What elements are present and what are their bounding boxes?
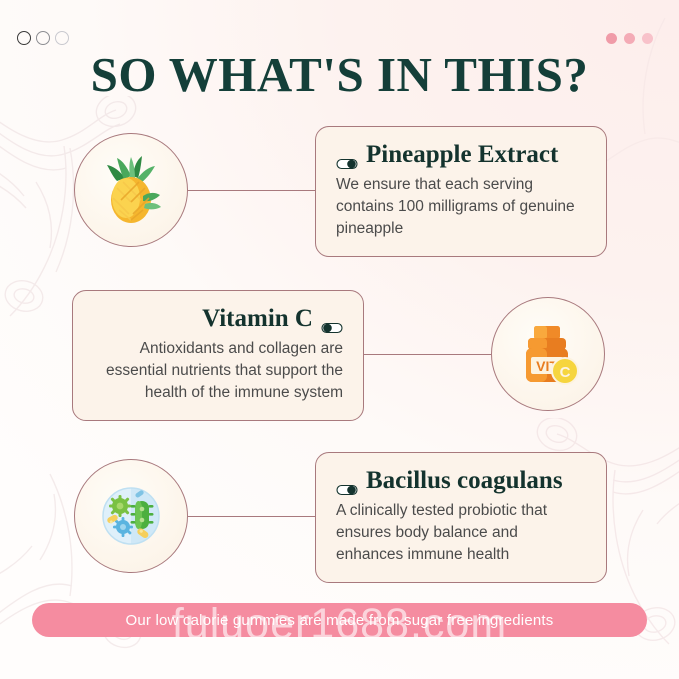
ingredient-card-vitamin-c: Vitamin C Antioxidants and collagen are … <box>72 290 364 421</box>
pineapple-icon <box>74 133 188 247</box>
leaf-bullet-icon <box>336 475 358 487</box>
ingredient-card-bacillus: Bacillus coagulans A clinically tested p… <box>315 452 607 583</box>
ingredient-row-pineapple: Pineapple Extract We ensure that each se… <box>0 126 679 266</box>
ingredient-heading-text: Bacillus coagulans <box>366 467 563 495</box>
vitamin-c-bottle-icon: VIT C <box>491 297 605 411</box>
infographic-canvas: SO WHAT'S IN THIS? <box>0 0 679 679</box>
ingredient-heading-text: Pineapple Extract <box>366 141 558 169</box>
leaf-bullet-icon <box>321 313 343 325</box>
ingredient-card-pineapple: Pineapple Extract We ensure that each se… <box>315 126 607 257</box>
connector-line <box>188 516 316 517</box>
ingredient-heading: Bacillus coagulans <box>336 467 586 495</box>
ingredient-heading: Vitamin C <box>93 305 343 333</box>
ring-icon-3 <box>55 31 69 45</box>
ingredient-body: We ensure that each serving contains 100… <box>336 174 586 240</box>
top-left-rings <box>17 31 69 45</box>
bottom-banner-text: Our low calorie gummies are made from su… <box>125 612 553 629</box>
ingredient-row-vitamin-c: VIT C Vitamin C Antioxidants and collage… <box>0 290 679 430</box>
connector-line <box>363 354 491 355</box>
ingredient-body: Antioxidants and collagen are essential … <box>93 338 343 404</box>
bottom-banner: Our low calorie gummies are made from su… <box>32 603 647 637</box>
ring-icon-2 <box>36 31 50 45</box>
ingredient-heading-text: Vitamin C <box>202 305 313 333</box>
ingredient-row-bacillus: Bacillus coagulans A clinically tested p… <box>0 452 679 592</box>
ring-icon-1 <box>17 31 31 45</box>
dot-icon-1 <box>606 33 617 44</box>
leaf-bullet-icon <box>336 149 358 161</box>
top-right-dots <box>606 33 653 44</box>
ingredient-heading: Pineapple Extract <box>336 141 586 169</box>
page-title: SO WHAT'S IN THIS? <box>0 46 679 103</box>
svg-text:C: C <box>560 364 571 381</box>
dot-icon-3 <box>642 33 653 44</box>
connector-line <box>188 190 316 191</box>
dot-icon-2 <box>624 33 635 44</box>
ingredient-body: A clinically tested probiotic that ensur… <box>336 500 586 566</box>
probiotic-petri-dish-icon <box>74 459 188 573</box>
